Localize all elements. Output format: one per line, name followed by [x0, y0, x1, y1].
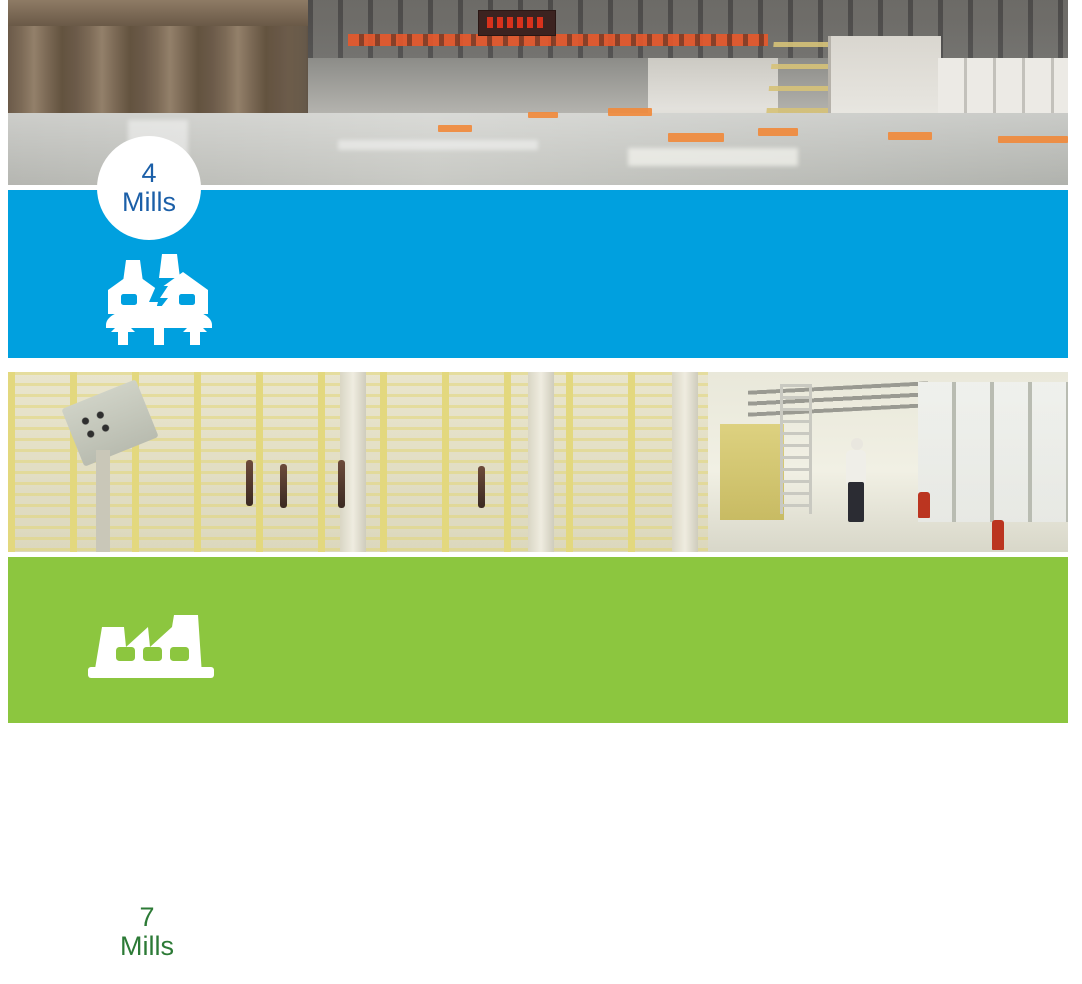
factory-icon [86, 601, 216, 686]
box-plants-stat-band: Box plants 49.9 Corrugating base paper 4… [8, 557, 1068, 723]
section-paper-mills: Paper mills 171.6 Virgin wood pulp 8.7 D… [0, 0, 1082, 358]
photo-column [672, 372, 698, 552]
photo-worker-head [851, 438, 863, 450]
photo-floor-marker [998, 136, 1068, 143]
section-box-plants: Box plants 49.9 Corrugating base paper 4… [0, 372, 1082, 723]
photo-floor-reflection [338, 140, 538, 150]
photo-column [528, 372, 554, 552]
photo-worker-legs [848, 482, 864, 522]
infographic-root: Paper mills 171.6 Virgin wood pulp 8.7 D… [0, 0, 1082, 735]
photo-glass-partition [918, 382, 1068, 522]
badge-unit: Mills [120, 931, 174, 961]
photo-hanging-tool [280, 464, 287, 508]
photo-hanging-tool [246, 460, 253, 506]
photo-hanging-tool [338, 460, 345, 508]
photo-floor-pallet [628, 148, 798, 166]
paper-mill-icon [104, 250, 216, 350]
photo-ceiling-trusses [308, 0, 1068, 58]
photo-led-sign [478, 10, 556, 36]
photo-floor-marker [608, 108, 652, 116]
photo-floor-marker [758, 128, 798, 136]
photo-paper-reel-tops [8, 0, 308, 26]
badge-unit: Mills [122, 187, 176, 217]
box-plant-photo [8, 372, 1068, 552]
photo-floor-marker [528, 112, 558, 118]
photo-access-ladder [780, 384, 812, 514]
badge-count: 7 [139, 903, 154, 931]
photo-control-panel-stand [96, 450, 110, 552]
photo-fire-extinguisher [992, 520, 1004, 550]
paper-mills-count-badge: 4 Mills [97, 136, 201, 240]
photo-hanging-tool [478, 466, 485, 508]
photo-floor-marker [668, 133, 724, 142]
box-plants-count-badge: 7 Mills [95, 880, 199, 984]
photo-floor-marker [438, 125, 472, 132]
photo-yellow-cabinet [720, 424, 784, 520]
badge-count: 4 [141, 159, 156, 187]
photo-orange-light-strip [348, 34, 768, 46]
photo-worker-body [846, 450, 866, 484]
photo-fire-extinguisher [918, 492, 930, 518]
photo-floor-marker [888, 132, 932, 140]
